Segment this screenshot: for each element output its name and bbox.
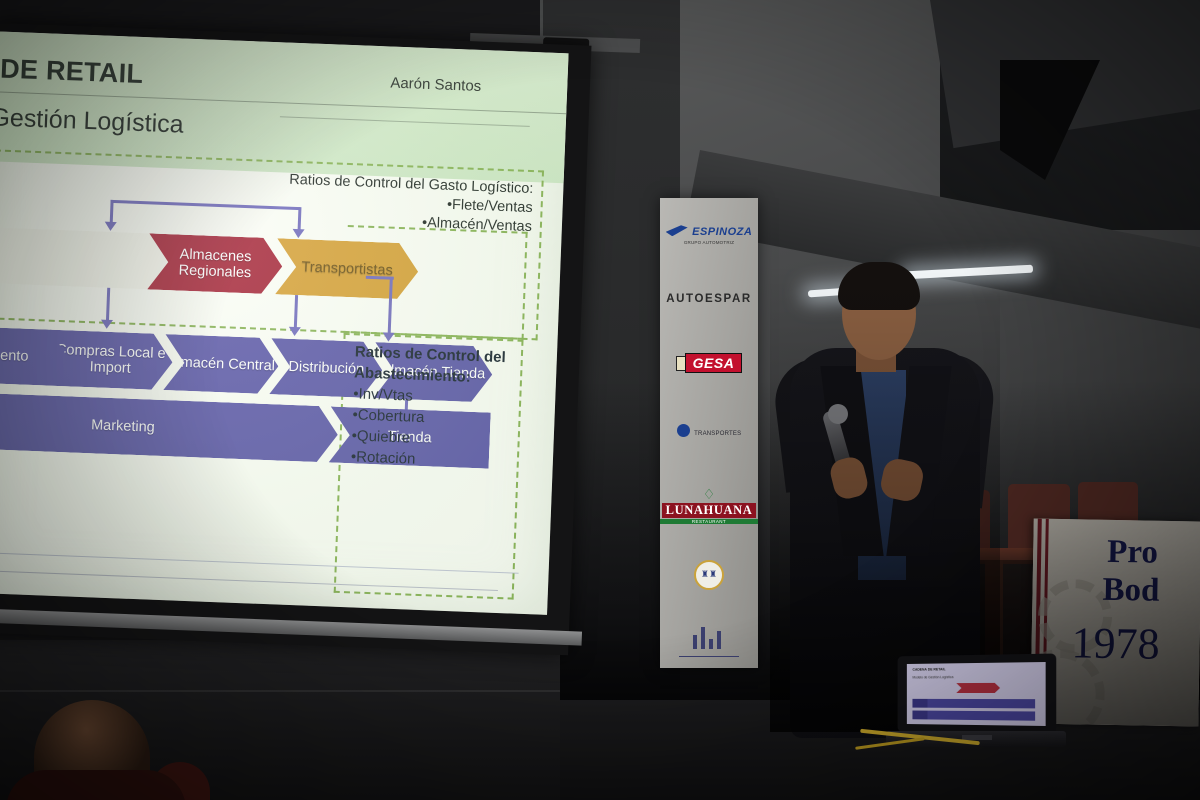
transportes-logo: TRANSPORTES [660, 422, 758, 440]
chevron-almacen-central: Almacén Central [163, 334, 279, 394]
arrow-down-icon [104, 222, 116, 231]
autoespar-logo: AUTOESPAR [660, 293, 758, 305]
ratios-abastecimiento-block: Ratios de Control del Abastecimiento: •I… [351, 341, 507, 473]
ratios-gasto-block: Ratios de Control del Gasto Logístico: •… [287, 171, 533, 238]
ratios-abast-heading-2: Abastecimiento: [354, 364, 471, 385]
laptop-slide-bar [920, 699, 1035, 709]
arrow-down-icon [289, 327, 301, 336]
bars-baseline [679, 656, 739, 657]
arrow-down-icon [292, 229, 304, 238]
laptop-slide-bar [920, 711, 1035, 721]
presentation-room-photo: A DE RETAIL Aarón Santos e Gestión Logís… [0, 0, 1200, 800]
gesa-logo: GESA [660, 353, 758, 373]
chevron-almacenes-regionales: Almacenes Regionales [147, 233, 283, 294]
transportes-logo-label: TRANSPORTES [694, 431, 741, 437]
sponsor-banner-pillar: ESPINOZA GRUPO AUTOMOTRIZ AUTOESPAR GESA… [660, 198, 758, 668]
espinoza-logo-label: ESPINOZA [692, 226, 752, 238]
lunahuana-leaf-icon: ♢ [660, 488, 758, 501]
espinoza-swoosh-icon [666, 225, 688, 236]
espinoza-logo: ESPINOZA GRUPO AUTOMOTRIZ [660, 222, 758, 245]
bars-icon [687, 623, 731, 649]
audience-shoulders [6, 770, 186, 800]
projected-slide: A DE RETAIL Aarón Santos e Gestión Logís… [0, 31, 569, 615]
lunahuana-logo-sub: RESTAURANT [660, 519, 758, 524]
slide-title: A DE RETAIL [0, 53, 144, 90]
arrow-down-icon [382, 332, 394, 341]
seal-logo [660, 560, 758, 595]
chevron-label: Almacén Central [168, 354, 276, 374]
laptop-screen: CADENA DE RETAIL Modelo de Gestión Logís… [907, 662, 1046, 726]
laptop-slide-tag [912, 699, 927, 708]
laptop-slide-tag [912, 711, 927, 720]
laptop-slide-subtitle: Modelo de Gestión Logística [912, 675, 953, 679]
chevron-label: Almacenes Regionales [148, 245, 283, 283]
arrow-down-icon [101, 320, 113, 329]
transportes-badge-icon [677, 424, 690, 437]
laptop-slide-red-chevron [956, 683, 1000, 693]
lunahuana-logo-label: LUNAHUANA [662, 503, 757, 518]
seal-circle-icon [694, 560, 724, 590]
chevron-label: Distribución [288, 359, 364, 378]
gesa-logo-label: GESA [685, 353, 743, 373]
lunahuana-logo: ♢ LUNAHUANA RESTAURANT [660, 488, 758, 524]
chevron-transportistas: Transportistas [275, 238, 419, 299]
chevron-marketing: Marketing [0, 390, 339, 462]
floor-edge-line [0, 690, 560, 692]
presenter-laptop: CADENA DE RETAIL Modelo de Gestión Logís… [880, 655, 1080, 765]
espinoza-logo-sub: GRUPO AUTOMOTRIZ [660, 240, 758, 245]
laptop-slide-title: CADENA DE RETAIL [912, 667, 945, 671]
bars-logo [660, 623, 758, 657]
slide-author: Aarón Santos [390, 75, 481, 95]
chevron-label: Marketing [91, 417, 155, 436]
chevron-label: aneamiento [0, 346, 29, 365]
